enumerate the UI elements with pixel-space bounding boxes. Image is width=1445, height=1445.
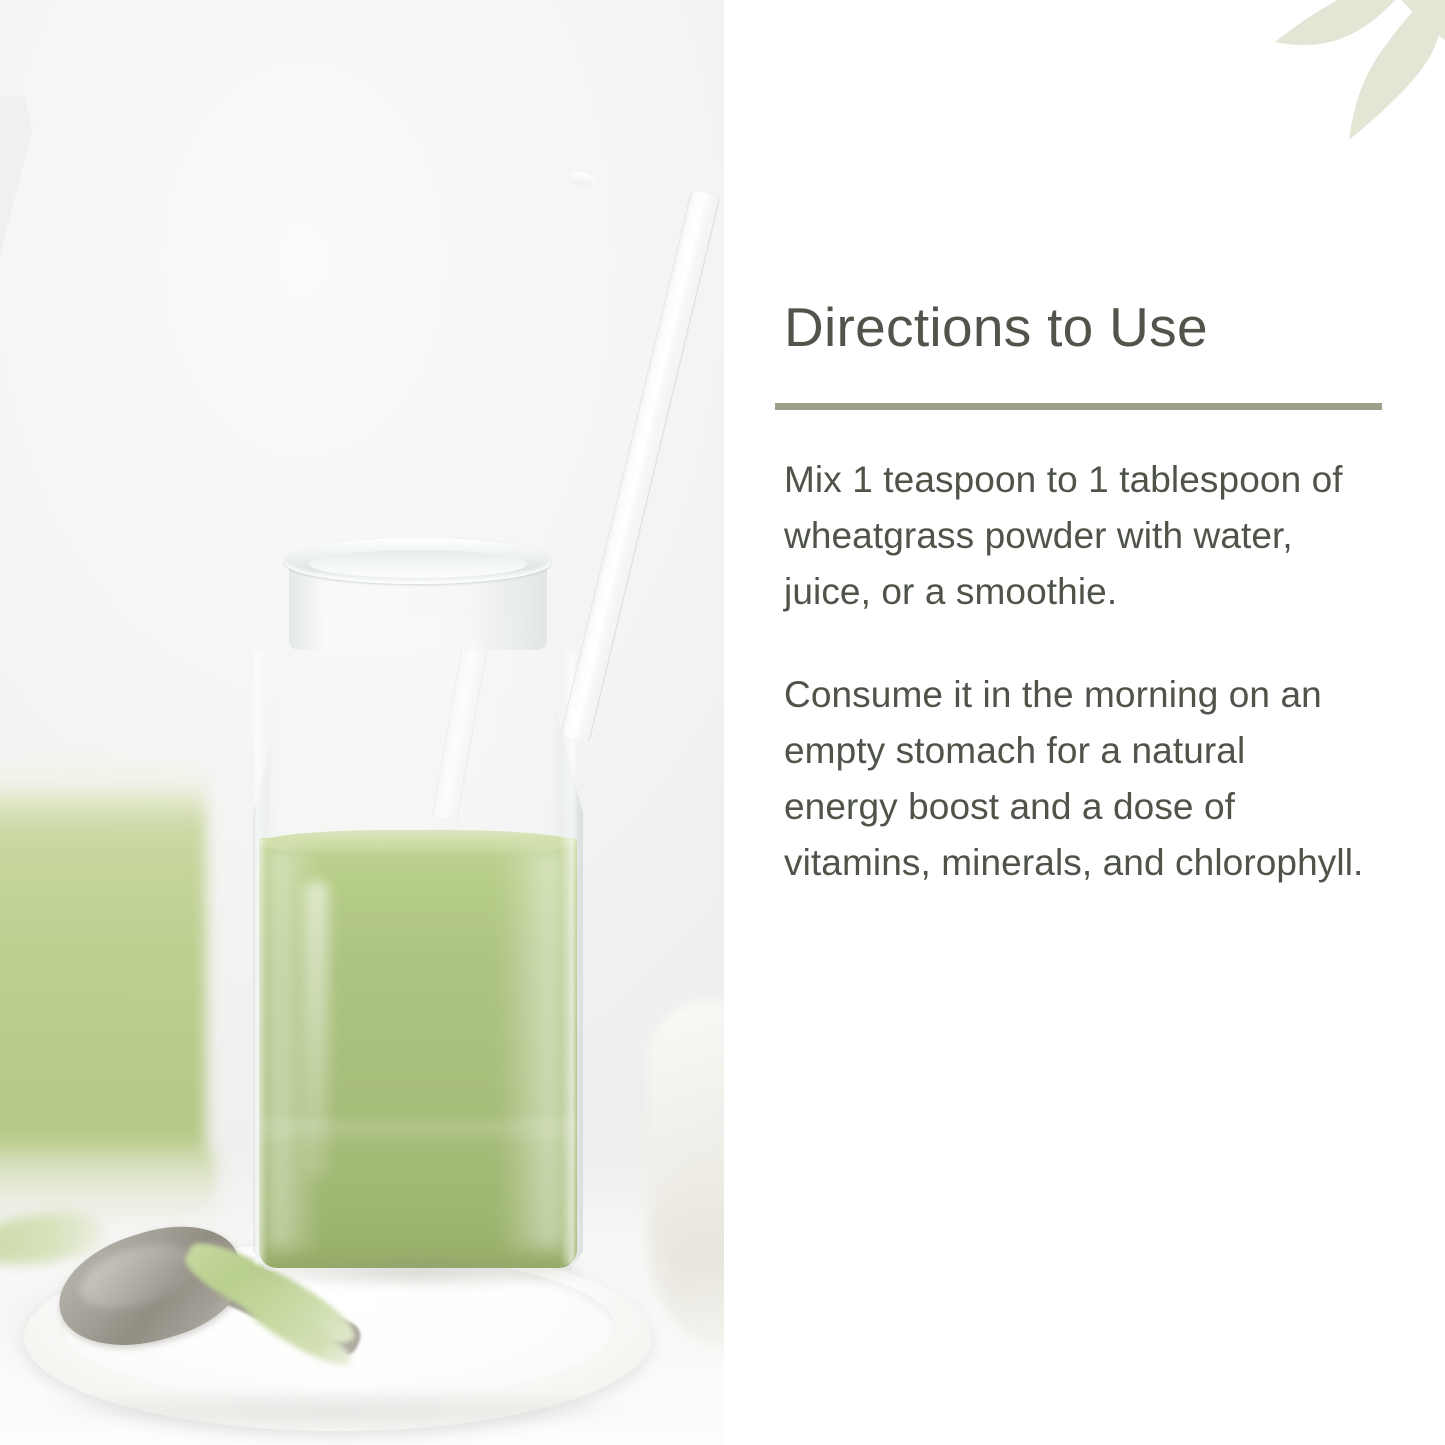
- directions-content-panel: Directions to Use Mix 1 teaspoon to 1 ta…: [724, 0, 1445, 1445]
- directions-paragraph-2: Consume it in the morning on an empty st…: [784, 667, 1364, 892]
- directions-body: Mix 1 teaspoon to 1 tablespoon of wheatg…: [784, 452, 1364, 892]
- bottle-edge-right: [561, 650, 575, 1265]
- bottle-edge-left: [255, 650, 267, 1265]
- background-glass: [0, 770, 206, 1200]
- bottle-opening: [309, 550, 527, 578]
- smoothie-band: [259, 1120, 577, 1160]
- background-glass-base: [0, 1150, 214, 1220]
- glass-bottle: [243, 520, 595, 1290]
- product-photo: [0, 0, 724, 1445]
- title-divider: [775, 403, 1382, 410]
- leaf-decoration-icon: [1245, 0, 1445, 170]
- linen-cloth-fold: [668, 1160, 724, 1350]
- product-directions-card: Directions to Use Mix 1 teaspoon to 1 ta…: [0, 0, 1445, 1445]
- directions-paragraph-1: Mix 1 teaspoon to 1 tablespoon of wheatg…: [784, 452, 1364, 621]
- page-title: Directions to Use: [784, 297, 1404, 358]
- smoothie-highlight-right: [501, 850, 563, 1250]
- bottle-base-shadow: [251, 1255, 585, 1287]
- plate-shadow: [40, 1392, 636, 1428]
